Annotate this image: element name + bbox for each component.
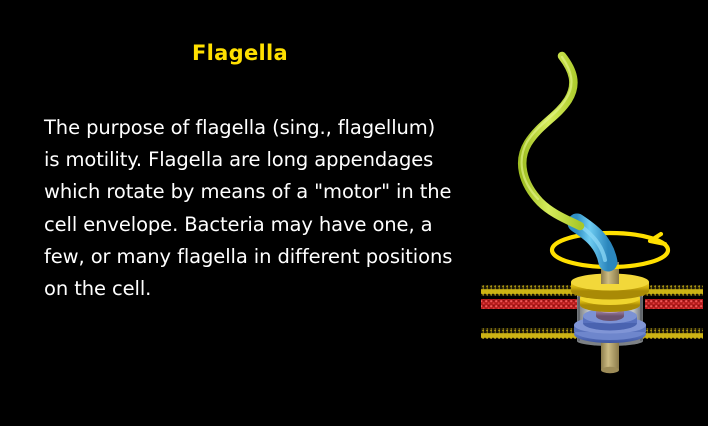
peptidoglycan-layer [481,299,577,309]
cell-envelope-left [481,285,577,339]
inner-membrane [641,328,703,339]
outer-membrane [481,285,577,296]
inner-membrane [481,328,577,339]
outer-membrane [641,285,703,296]
flagellum-diagram-svg [0,0,708,426]
peptidoglycan-layer [645,299,703,309]
cell-envelope-right [641,285,703,339]
flagellum-diagram [0,0,708,426]
slide-canvas: Flagella The purpose of flagella (sing.,… [0,0,708,426]
